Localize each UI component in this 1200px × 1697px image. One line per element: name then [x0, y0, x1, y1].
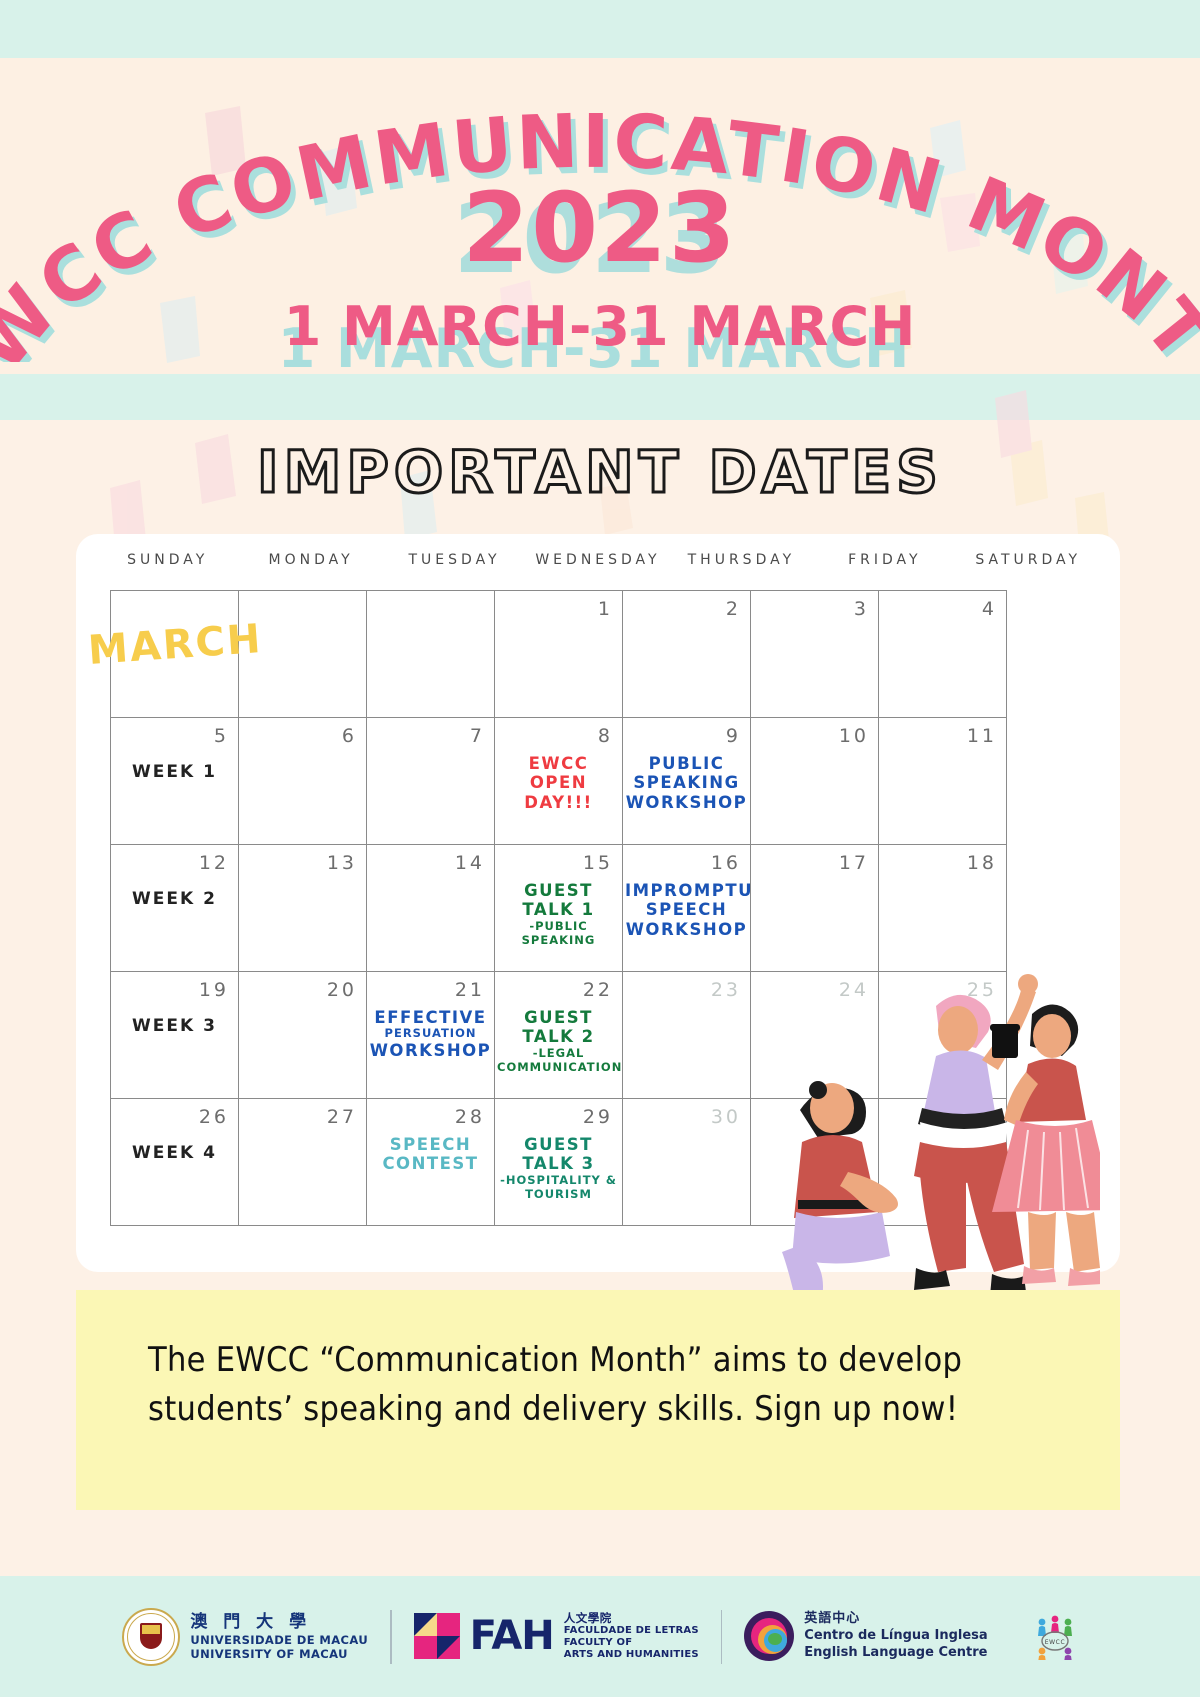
calendar-day-cell: 26WEEK 4 [111, 1099, 239, 1226]
day-number: 8 [598, 725, 613, 747]
day-number: 10 [839, 725, 869, 747]
day-number: 27 [327, 1106, 357, 1128]
date-range-text: 1 MARCH-31 MARCH [0, 295, 1200, 358]
day-number: 20 [327, 979, 357, 1001]
event-title-line: IMPROMPTU [625, 881, 748, 900]
day-name-saturday: SATURDAY [957, 552, 1100, 588]
day-number: 30 [711, 1106, 741, 1128]
day-number: 17 [839, 852, 869, 874]
day-number: 9 [726, 725, 741, 747]
event-subtitle-line: TOURISM [497, 1188, 620, 1202]
calendar-day-cell: 28SPEECHCONTEST [367, 1099, 495, 1226]
event-title-line: WORKSHOP [625, 793, 748, 812]
event-subtitle-line: -LEGAL [497, 1047, 620, 1061]
people-illustration [740, 960, 1100, 1290]
fah-english-name-2: ARTS AND HUMANITIES [564, 1649, 699, 1661]
day-number: 6 [342, 725, 357, 747]
calendar-day-cell: 8EWCCOPENDAY!!! [495, 718, 623, 845]
calendar-day-cell: 19WEEK 3 [111, 972, 239, 1099]
day-number: 7 [470, 725, 485, 747]
day-name-tuesday: TUESDAY [383, 552, 526, 588]
um-portuguese-name: UNIVERSIDADE DE MACAU [190, 1633, 368, 1647]
divider [721, 1610, 723, 1664]
top-mint-band [0, 0, 1200, 58]
day-number: 14 [455, 852, 485, 874]
calendar-day-cell: 16IMPROMPTUSPEECHWORKSHOP [623, 845, 751, 972]
event-title-line: SPEAKING [625, 773, 748, 792]
divider [390, 1610, 392, 1664]
calendar-event: GUESTTALK 2-LEGALCOMMUNICATION [497, 1008, 620, 1074]
day-name-sunday: SUNDAY [96, 552, 239, 588]
day-number: 1 [598, 598, 613, 620]
event-subtitle-line: COMMUNICATION [497, 1061, 620, 1075]
ewcc-wordmark: EWCC [1044, 1639, 1065, 1646]
poster-root: EWCC COMMUNICATION MONTH EWCC COMMUNICAT… [0, 0, 1200, 1697]
calendar-event: GUESTTALK 3-HOSPITALITY &TOURISM [497, 1135, 620, 1201]
week-label: WEEK 4 [111, 1143, 238, 1163]
event-subtitle-line: PERSUATION [369, 1027, 492, 1041]
calendar-day-cell: 20 [239, 972, 367, 1099]
day-name-thursday: THURSDAY [670, 552, 813, 588]
day-number: 12 [199, 852, 229, 874]
event-title-line: CONTEST [369, 1154, 492, 1173]
day-number: 29 [583, 1106, 613, 1128]
calendar-event: EFFECTIVEPERSUATIONWORKSHOP [369, 1008, 492, 1061]
week-label: WEEK 3 [111, 1016, 238, 1036]
day-name-monday: MONDAY [239, 552, 382, 588]
um-chinese-name: 澳 門 大 學 [190, 1612, 368, 1633]
calendar-day-cell: 21EFFECTIVEPERSUATIONWORKSHOP [367, 972, 495, 1099]
calendar-event: IMPROMPTUSPEECHWORKSHOP [625, 881, 748, 939]
event-title-line: DAY!!! [497, 793, 620, 812]
week-label: WEEK 1 [111, 762, 238, 782]
calendar-day-cell: 9PUBLICSPEAKINGWORKSHOP [623, 718, 751, 845]
day-name-friday: FRIDAY [813, 552, 956, 588]
fah-english-name-1: FACULTY OF [564, 1637, 699, 1649]
calendar-day-cell: 18 [879, 845, 1007, 972]
calendar-day-cell: 23 [623, 972, 751, 1099]
day-number: 26 [199, 1106, 229, 1128]
logo-university-of-macau: 澳 門 大 學 UNIVERSIDADE DE MACAU UNIVERSITY… [100, 1608, 390, 1666]
day-number: 23 [711, 979, 741, 1001]
calendar-day-cell: 2 [623, 591, 751, 718]
elc-english-name: English Language Centre [804, 1645, 987, 1662]
fah-wordmark: FAH [470, 1616, 554, 1656]
calendar-day-cell: 6 [239, 718, 367, 845]
event-title-line: TALK 3 [497, 1154, 620, 1173]
calendar-day-cell: 14 [367, 845, 495, 972]
calendar-day-cell: 13 [239, 845, 367, 972]
event-title-line: WORKSHOP [369, 1041, 492, 1060]
calendar-day-cell: 30 [623, 1099, 751, 1226]
calendar-week-row: 12WEEK 2131415GUESTTALK 1-PUBLICSPEAKING… [111, 845, 1007, 972]
calendar-day-cell: 7 [367, 718, 495, 845]
day-number: 19 [199, 979, 229, 1001]
um-seal-icon [122, 1608, 180, 1666]
event-title-line: GUEST [497, 1135, 620, 1154]
calendar-day-header: SUNDAY MONDAY TUESDAY WEDNESDAY THURSDAY… [96, 552, 1100, 588]
um-english-name: UNIVERSITY OF MACAU [190, 1647, 368, 1661]
event-title-line: EFFECTIVE [369, 1008, 492, 1027]
day-name-wednesday: WEDNESDAY [526, 552, 669, 588]
fah-chinese-name: 人文學院 [564, 1612, 699, 1626]
calendar-day-cell: 3 [751, 591, 879, 718]
ewcc-people-icon: EWCC [1032, 1614, 1078, 1660]
event-title-line: GUEST [497, 1008, 620, 1027]
event-title-line: TALK 2 [497, 1027, 620, 1046]
event-title-line: SPEECH [625, 900, 748, 919]
calendar-day-cell: 12WEEK 2 [111, 845, 239, 972]
day-number: 11 [967, 725, 997, 747]
elc-portuguese-name: Centro de Língua Inglesa [804, 1628, 987, 1645]
event-title-line: PUBLIC [625, 754, 748, 773]
calendar-event: GUESTTALK 1-PUBLICSPEAKING [497, 881, 620, 947]
calendar-day-cell: 1 [495, 591, 623, 718]
day-number: 18 [967, 852, 997, 874]
caption-text: The EWCC “Communication Month” aims to d… [148, 1336, 1048, 1435]
day-number: 21 [455, 979, 485, 1001]
footer-logos: 澳 門 大 學 UNIVERSIDADE DE MACAU UNIVERSITY… [0, 1576, 1200, 1697]
calendar-day-cell: 5WEEK 1 [111, 718, 239, 845]
event-title-line: EWCC [497, 754, 620, 773]
fah-mark-icon [414, 1613, 460, 1659]
calendar-day-cell: 4 [879, 591, 1007, 718]
day-number: 13 [327, 852, 357, 874]
event-title-line: OPEN [497, 773, 620, 792]
week-label: WEEK 2 [111, 889, 238, 909]
day-number: 4 [982, 598, 997, 620]
day-number: 2 [726, 598, 741, 620]
calendar-day-cell [367, 591, 495, 718]
fah-portuguese-name: FACULDADE DE LETRAS [564, 1625, 699, 1637]
event-subtitle-line: -PUBLIC [497, 920, 620, 934]
day-number: 3 [854, 598, 869, 620]
day-number: 16 [711, 852, 741, 874]
calendar-day-cell: 29GUESTTALK 3-HOSPITALITY &TOURISM [495, 1099, 623, 1226]
event-title-line: GUEST [497, 881, 620, 900]
page-title: IMPORTANT DATES [0, 438, 1200, 506]
calendar-event: PUBLICSPEAKINGWORKSHOP [625, 754, 748, 812]
elc-chinese-name: 英語中心 [804, 1611, 987, 1628]
calendar-day-cell: 10 [751, 718, 879, 845]
day-number: 28 [455, 1106, 485, 1128]
day-number: 5 [214, 725, 229, 747]
calendar-day-cell: 17 [751, 845, 879, 972]
event-title-line: TALK 1 [497, 900, 620, 919]
calendar-day-cell: 27 [239, 1099, 367, 1226]
calendar-event: SPEECHCONTEST [369, 1135, 492, 1174]
caption-box: The EWCC “Communication Month” aims to d… [76, 1290, 1120, 1510]
logo-fah: FAH 人文學院 FACULDADE DE LETRAS FACULTY OF … [392, 1612, 721, 1662]
calendar-day-cell: 15GUESTTALK 1-PUBLICSPEAKING [495, 845, 623, 972]
event-subtitle-line: -HOSPITALITY & [497, 1174, 620, 1188]
elc-globe-icon [744, 1611, 794, 1661]
event-title-line: SPEECH [369, 1135, 492, 1154]
calendar-week-row: 5WEEK 1678EWCCOPENDAY!!!9PUBLICSPEAKINGW… [111, 718, 1007, 845]
calendar-day-cell: 11 [879, 718, 1007, 845]
event-subtitle-line: SPEAKING [497, 934, 620, 948]
calendar-day-cell: 22GUESTTALK 2-LEGALCOMMUNICATION [495, 972, 623, 1099]
event-title-line: WORKSHOP [625, 920, 748, 939]
logo-ewcc: EWCC [1010, 1614, 1100, 1660]
day-number: 22 [583, 979, 613, 1001]
day-number: 15 [583, 852, 613, 874]
calendar-event: EWCCOPENDAY!!! [497, 754, 620, 812]
year-text: 2023 [0, 172, 1200, 284]
logo-english-language-centre: 英語中心 Centro de Língua Inglesa English La… [722, 1611, 1009, 1662]
